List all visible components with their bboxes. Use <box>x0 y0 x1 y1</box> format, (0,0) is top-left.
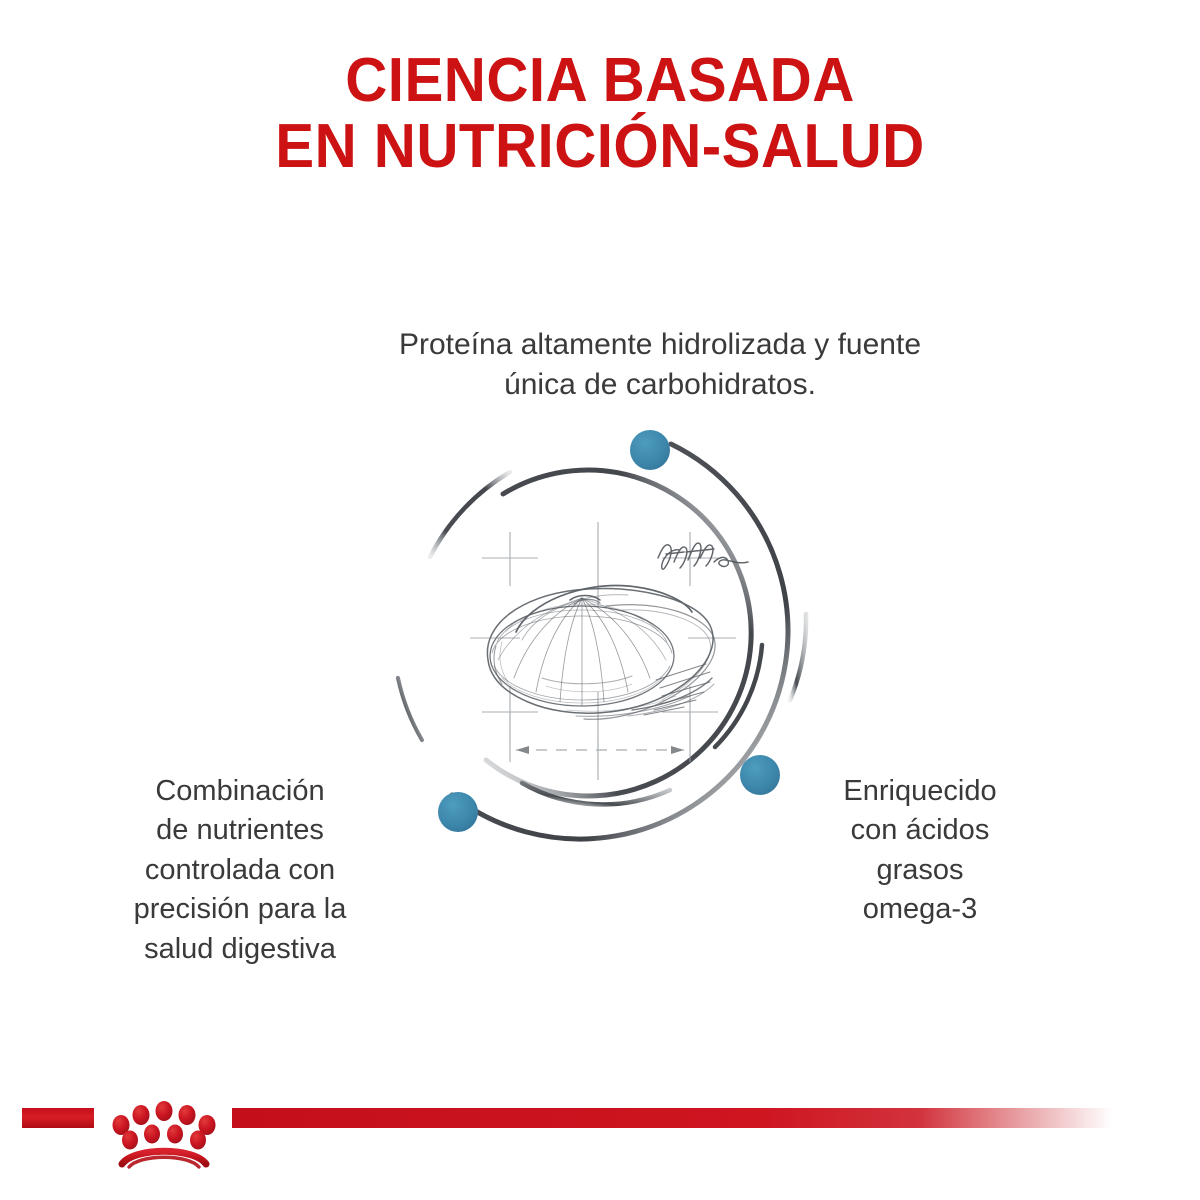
kibble-sketch <box>487 585 715 719</box>
royal-canin-crown-logo <box>100 1090 232 1170</box>
callout-left-line-5: salud digestiva <box>70 930 410 969</box>
callout-text-left: Combinación de nutrientes controlada con… <box>70 772 410 969</box>
diagram-dot-top <box>630 430 670 470</box>
crown-pearl-top-3 <box>156 1101 173 1121</box>
crown-pearl-bottom-2 <box>144 1125 160 1144</box>
callout-left-line-4: precisión para la <box>70 890 410 929</box>
callout-top-line-1: Proteína altamente hidrolizada y fuente <box>300 325 1020 365</box>
page-title-line-1: CIENCIA BASADA <box>36 48 1164 114</box>
kibble-diagram <box>370 410 830 870</box>
diagram-dot-bottom-left <box>438 792 478 832</box>
callout-left-line-3: controlada con <box>70 851 410 890</box>
crown-pearl-bottom-3 <box>167 1125 183 1144</box>
page-title-line-2: EN NUTRICIÓN-SALUD <box>36 114 1164 180</box>
blueprint-guides <box>470 522 736 780</box>
crown-pearl-bottom-4 <box>190 1131 206 1150</box>
crown-base-arc-inner <box>129 1157 199 1167</box>
crown-pearl-top-4 <box>179 1105 196 1125</box>
diagram-dot-right <box>740 755 780 795</box>
callout-right-line-4: omega-3 <box>790 890 1050 929</box>
footer-bar-right <box>232 1108 1112 1128</box>
callout-left-line-1: Combinación <box>70 772 410 811</box>
crown-pearl-top-2 <box>133 1105 150 1125</box>
callout-text-top: Proteína altamente hidrolizada y fuente … <box>300 325 1020 405</box>
page-title: CIENCIA BASADA EN NUTRICIÓN-SALUD <box>0 48 1200 179</box>
inner-ring-arc <box>486 470 762 804</box>
footer-logo-bar <box>0 1090 1200 1200</box>
callout-left-line-2: de nutrientes <box>70 811 410 850</box>
footer-bar-left <box>22 1108 94 1128</box>
callout-top-line-2: única de carbohidratos. <box>300 365 1020 405</box>
crown-pearl-bottom-1 <box>122 1131 138 1150</box>
